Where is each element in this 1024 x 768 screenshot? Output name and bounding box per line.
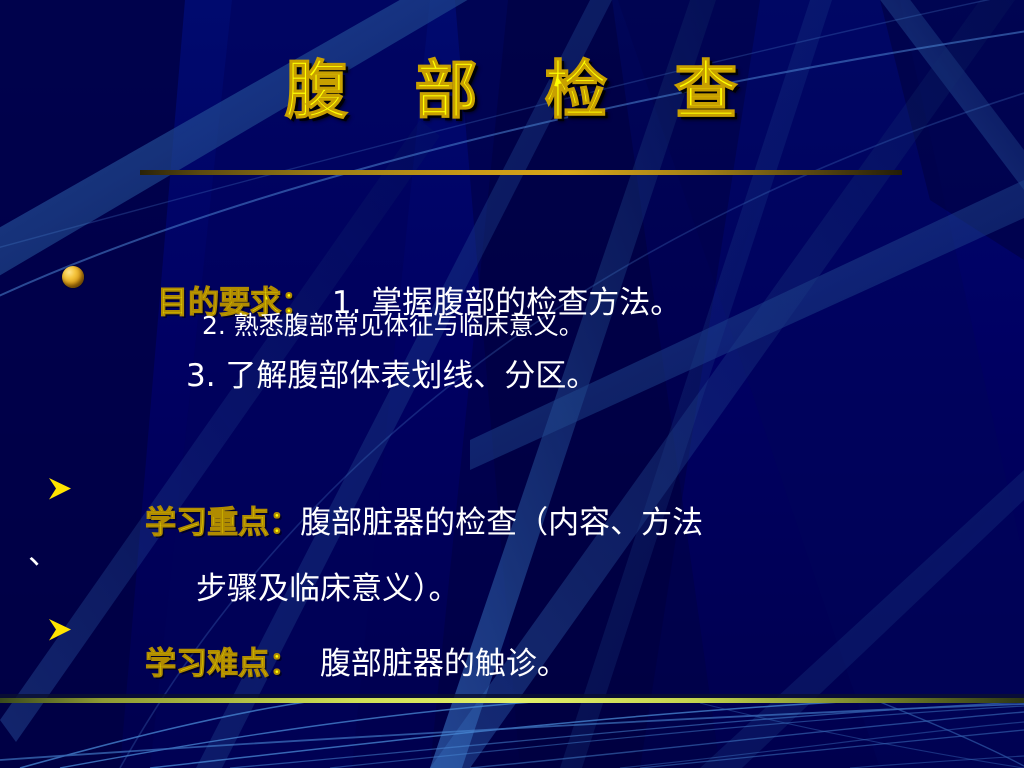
objectives-item-2: 2. 熟悉腹部常见体征与临床意义。 (202, 306, 584, 342)
sphere-bullet-icon (62, 266, 84, 288)
section-key-points: 学习重点：腹部脏器的检查（内容、方法 (44, 472, 703, 574)
key-points-heading: 学习重点： (145, 505, 300, 541)
section-difficulties: 学习难点： 腹部脏器的触诊。 (44, 613, 568, 715)
key-points-wrap-comma: 、 (28, 528, 59, 573)
difficulties-first-line: 学习难点： 腹部脏器的触诊。 (86, 613, 568, 715)
title-divider (140, 170, 902, 175)
slide-canvas: 腹 部 检 查 目的要求： 1. 掌握腹部的检查方法。 2. 熟悉腹部常见体征与… (0, 0, 1024, 768)
key-points-line-1: 腹部脏器的检查（内容、方法 (300, 505, 703, 541)
key-points-first-line: 学习重点：腹部脏器的检查（内容、方法 (86, 472, 703, 574)
key-points-line-2: 步骤及临床意义）。 (196, 563, 460, 608)
arrow-bullet-icon (44, 615, 78, 645)
difficulties-heading: 学习难点： (145, 646, 300, 682)
page-title: 腹 部 检 查 (285, 58, 740, 124)
difficulties-line-1: 腹部脏器的触诊。 (320, 646, 568, 682)
title-block: 腹 部 检 查 (0, 58, 1024, 124)
arrow-bullet-icon (44, 474, 78, 504)
objectives-item-3: 3. 了解腹部体表划线、分区。 (186, 350, 597, 395)
